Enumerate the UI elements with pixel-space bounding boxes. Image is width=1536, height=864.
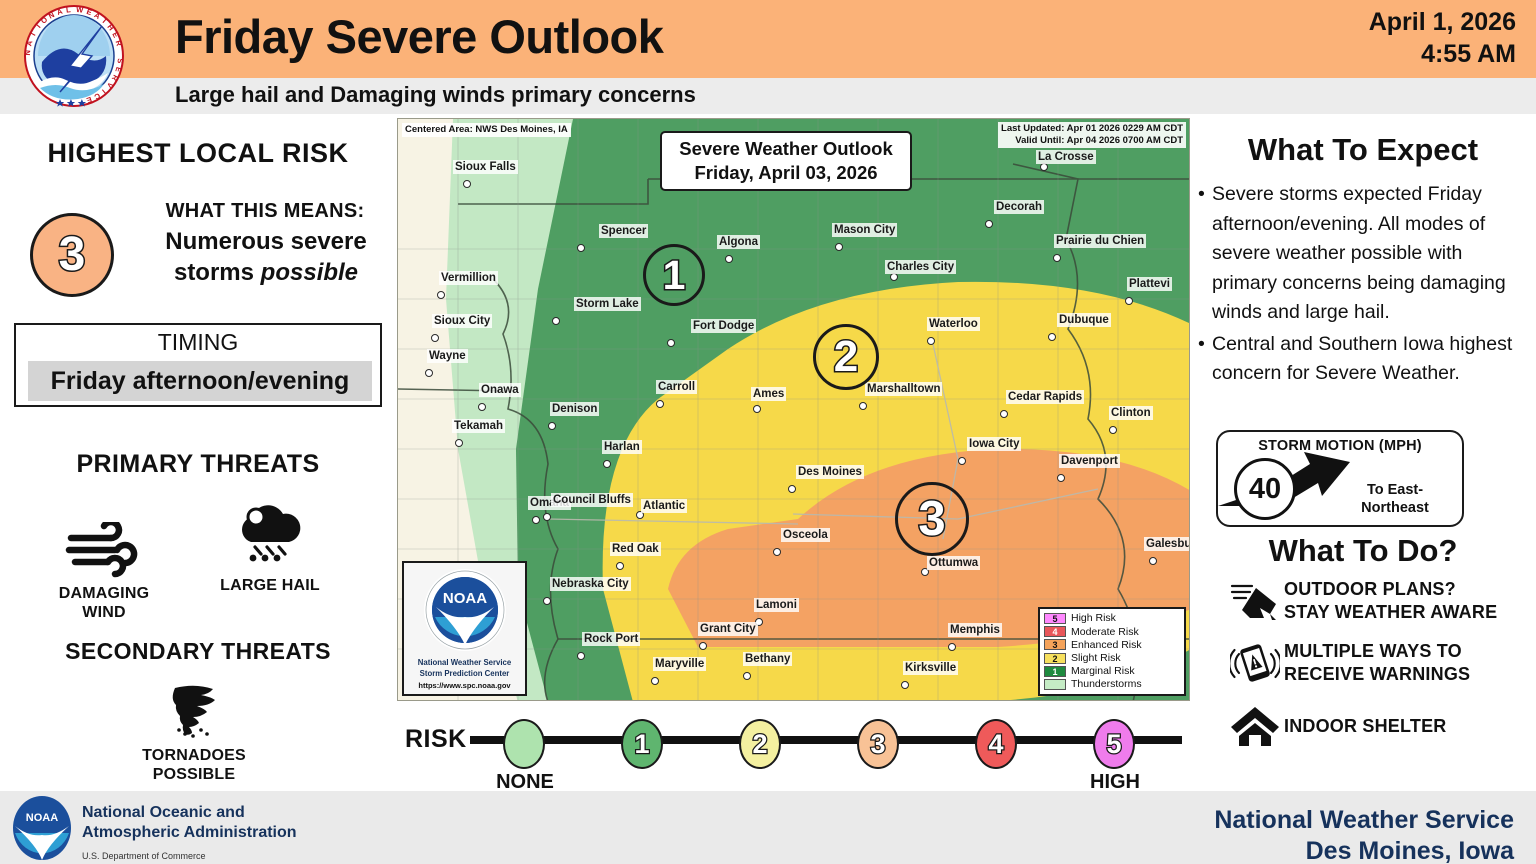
- todo-outdoor-plans: OUTDOOR PLANS? STAY WEATHER AWARE: [1226, 578, 1497, 624]
- city-label: Mason City: [832, 223, 897, 237]
- risk-scale-node-number: 1: [634, 731, 649, 758]
- large-hail-icon: [190, 510, 350, 570]
- city-marker: [743, 672, 751, 680]
- city-marker: [1000, 410, 1008, 418]
- city-label: Charles City: [885, 260, 956, 274]
- map-title-line1: Severe Weather Outlook: [679, 137, 893, 161]
- what-this-means-line1: Numerous severe: [135, 226, 397, 257]
- page-title: Friday Severe Outlook: [175, 10, 663, 64]
- city-label: Spencer: [599, 224, 648, 238]
- timing-value-highlight: Friday afternoon/evening: [28, 361, 372, 401]
- city-label: Storm Lake: [574, 297, 641, 311]
- city-marker: [985, 220, 993, 228]
- risk-scale-node-number: 4: [988, 731, 1003, 758]
- city-label: Harlan: [602, 440, 642, 454]
- city-label: Prairie du Chien: [1054, 234, 1146, 248]
- timing-value: Friday afternoon/evening: [51, 367, 350, 396]
- todo-indoor-shelter: INDOOR SHELTER: [1226, 704, 1446, 748]
- city-marker: [927, 337, 935, 345]
- city-marker: [532, 516, 540, 524]
- todo-text: MULTIPLE WAYS TO RECEIVE WARNINGS: [1284, 640, 1470, 686]
- primary-threats-title: PRIMARY THREATS: [0, 450, 396, 479]
- city-label: Nebraska City: [550, 577, 631, 591]
- city-marker: [699, 642, 707, 650]
- map-risk-bubble-number: 3: [918, 495, 945, 544]
- risk-scale: RISK 12345 NONE HIGH: [397, 701, 1190, 790]
- highest-risk-number: 3: [59, 231, 86, 279]
- threat-caption: DAMAGING WIND: [24, 584, 184, 622]
- storm-direction-text: To East- Northeast: [1340, 481, 1450, 517]
- risk-scale-node-number: 2: [752, 731, 767, 758]
- what-this-means-text: Numerous severe storms possible: [135, 226, 397, 288]
- issue-date: April 1, 2026: [1369, 6, 1516, 38]
- threat-caption: LARGE HAIL: [190, 576, 350, 595]
- footer-bar: NOAA National Oceanic and Atmospheric Ad…: [0, 791, 1536, 864]
- bullet-dot: •: [1198, 180, 1212, 328]
- what-to-expect-bullets: •Severe storms expected Friday afternoon…: [1198, 180, 1528, 391]
- legend-label: Thunderstorms: [1071, 678, 1142, 690]
- city-label: Fort Dodge: [691, 319, 756, 333]
- right-info-panel: What To Expect •Severe storms expected F…: [1190, 118, 1536, 790]
- risk-scale-node-3: 3: [857, 719, 899, 769]
- risk-scale-node-number: 3: [870, 731, 885, 758]
- city-label: Marshalltown: [865, 382, 942, 396]
- city-marker: [548, 422, 556, 430]
- city-marker: [773, 548, 781, 556]
- legend-swatch: 2: [1044, 653, 1066, 664]
- tornado-icon: [114, 680, 274, 740]
- legend-swatch: 5: [1044, 613, 1066, 624]
- damaging-wind-icon: [24, 518, 184, 578]
- city-marker: [667, 339, 675, 347]
- risk-scale-node-1: 1: [621, 719, 663, 769]
- expect-bullet: •Severe storms expected Friday afternoon…: [1198, 180, 1528, 328]
- city-label: Galesburg: [1144, 537, 1190, 551]
- risk-scale-node-4: 4: [975, 719, 1017, 769]
- city-marker: [753, 405, 761, 413]
- city-marker: [1040, 163, 1048, 171]
- city-label: Osceola: [781, 528, 830, 542]
- city-marker: [577, 652, 585, 660]
- footer-noaa-line2: Atmospheric Administration: [82, 823, 297, 843]
- timing-label: TIMING: [16, 329, 380, 356]
- city-marker: [958, 457, 966, 465]
- city-marker: [890, 273, 898, 281]
- footer-office-line1: National Weather Service: [1214, 805, 1514, 836]
- risk-scale-node-2: 2: [739, 719, 781, 769]
- city-label: Plattevi: [1127, 277, 1172, 291]
- city-label: Waterloo: [927, 317, 980, 331]
- risk-scale-node-number: 5: [1106, 731, 1121, 758]
- city-marker: [1048, 333, 1056, 341]
- what-this-means-line2: storms possible: [135, 257, 397, 288]
- legend-swatch: 1: [1044, 666, 1066, 677]
- timing-box: TIMING Friday afternoon/evening: [14, 323, 382, 407]
- risk-scale-label: RISK: [405, 725, 467, 754]
- city-label: Lamoni: [754, 598, 799, 612]
- city-marker: [948, 643, 956, 651]
- city-marker: [425, 369, 433, 377]
- city-label: Red Oak: [610, 542, 661, 556]
- city-label: Dubuque: [1057, 313, 1111, 327]
- city-label: Decorah: [994, 200, 1044, 214]
- left-summary-panel: HIGHEST LOCAL RISK 3 WHAT THIS MEANS: Nu…: [0, 118, 396, 790]
- legend-label: High Risk: [1071, 612, 1116, 624]
- what-to-expect-title: What To Expect: [1190, 132, 1536, 168]
- severe-weather-outlook-graphic: N A T I O N A L W E A T H E R S E R V I: [0, 0, 1536, 864]
- legend-swatch: [1044, 679, 1066, 690]
- noaa-logo-icon: NOAA: [10, 795, 74, 864]
- threat-large-hail: LARGE HAIL: [190, 510, 350, 595]
- city-label: Wayne: [427, 349, 468, 363]
- city-marker: [725, 255, 733, 263]
- legend-swatch: 3: [1044, 639, 1066, 650]
- secondary-threats-title: SECONDARY THREATS: [0, 638, 396, 665]
- city-label: Kirksville: [903, 661, 958, 675]
- city-label: Sioux City: [432, 314, 492, 328]
- city-marker: [543, 597, 551, 605]
- issue-time: 4:55 AM: [1369, 38, 1516, 70]
- city-marker: [651, 677, 659, 685]
- city-label: Carroll: [656, 380, 697, 394]
- footer-office: National Weather Service Des Moines, Iow…: [1214, 805, 1514, 864]
- map-timestamp-label: Last Updated: Apr 01 2026 0229 AM CDT Va…: [998, 122, 1186, 148]
- city-marker: [437, 291, 445, 299]
- legend-label: Marginal Risk: [1071, 665, 1135, 677]
- city-marker: [455, 439, 463, 447]
- what-this-means-label: WHAT THIS MEANS:: [140, 200, 390, 223]
- map-risk-bubble-number: 2: [834, 335, 858, 379]
- spc-line1: National Weather Service: [418, 658, 511, 669]
- city-marker: [1125, 297, 1133, 305]
- city-label: Memphis: [948, 623, 1002, 637]
- outlook-map[interactable]: Centered Area: NWS Des Moines, IA Last U…: [397, 118, 1190, 701]
- legend-row: 5High Risk: [1044, 612, 1180, 625]
- bullet-text: Severe storms expected Friday afternoon/…: [1212, 180, 1528, 328]
- city-marker: [656, 400, 664, 408]
- city-marker: [543, 513, 551, 521]
- city-marker: [478, 403, 486, 411]
- legend-row: 3Enhanced Risk: [1044, 638, 1180, 651]
- todo-text: OUTDOOR PLANS? STAY WEATHER AWARE: [1284, 578, 1497, 624]
- city-label: Denison: [550, 402, 599, 416]
- legend-row: 1Marginal Risk: [1044, 665, 1180, 678]
- city-marker: [859, 402, 867, 410]
- city-marker: [463, 180, 471, 188]
- map-risk-bubble-3: 3: [895, 482, 969, 556]
- city-label: Sioux Falls: [453, 160, 518, 174]
- house-shelter-icon: [1226, 704, 1284, 748]
- city-label: Ottumwa: [927, 556, 980, 570]
- nws-seal-icon: N A T I O N A L W E A T H E R S E R V I: [14, 4, 134, 109]
- what-to-do-title: What To Do?: [1190, 533, 1536, 569]
- highest-risk-badge: 3: [30, 213, 114, 297]
- issue-datetime: April 1, 2026 4:55 AM: [1369, 6, 1516, 70]
- bullet-dot: •: [1198, 330, 1212, 389]
- map-risk-bubble-number: 1: [663, 255, 686, 296]
- svg-text:N: N: [23, 50, 32, 56]
- city-label: Onawa: [479, 383, 521, 397]
- spc-url: https://www.spc.noaa.gov: [418, 681, 510, 690]
- map-title-line2: Friday, April 03, 2026: [694, 161, 877, 185]
- page-subtitle: Large hail and Damaging winds primary co…: [175, 78, 696, 112]
- storm-motion-box: STORM MOTION (MPH) 40 To East- Northeast: [1216, 430, 1464, 527]
- footer-noaa-text: National Oceanic and Atmospheric Adminis…: [82, 803, 297, 864]
- city-label: Council Bluffs: [551, 493, 633, 507]
- city-marker: [835, 243, 843, 251]
- map-risk-bubble-1: 1: [643, 244, 705, 306]
- risk-scale-node-none: [503, 719, 545, 769]
- spc-line2: Storm Prediction Center: [420, 669, 510, 680]
- storm-speed-value: 40: [1249, 473, 1281, 506]
- risk-scale-node-5: 5: [1093, 719, 1135, 769]
- legend-label: Enhanced Risk: [1071, 639, 1142, 651]
- legend-row: Thunderstorms: [1044, 678, 1180, 691]
- city-marker: [788, 485, 796, 493]
- bullet-text: Central and Southern Iowa highest concer…: [1212, 330, 1528, 389]
- map-last-updated: Last Updated: Apr 01 2026 0229 AM CDT: [1001, 123, 1183, 135]
- todo-text: INDOOR SHELTER: [1284, 715, 1446, 738]
- city-label: Algona: [717, 235, 760, 249]
- city-marker: [577, 244, 585, 252]
- legend-swatch: 4: [1044, 626, 1066, 637]
- city-marker: [603, 460, 611, 468]
- threat-tornado: TORNADOES POSSIBLE: [114, 680, 274, 784]
- map-centered-area-label: Centered Area: NWS Des Moines, IA: [402, 123, 571, 137]
- legend-row: 4Moderate Risk: [1044, 625, 1180, 638]
- city-label: Maryville: [653, 657, 706, 671]
- city-label: Grant City: [698, 622, 758, 636]
- legend-row: 2Slight Risk: [1044, 651, 1180, 664]
- footer-office-line2: Des Moines, Iowa: [1214, 836, 1514, 864]
- city-label: Rock Port: [582, 632, 640, 646]
- svg-text:NOAA: NOAA: [26, 812, 58, 824]
- city-marker: [431, 334, 439, 342]
- map-risk-bubble-2: 2: [813, 324, 879, 390]
- map-valid-until: Valid Until: Apr 04 2026 0700 AM CDT: [1001, 135, 1183, 147]
- svg-text:NOAA: NOAA: [442, 590, 486, 607]
- city-label: La Crosse: [1036, 150, 1096, 164]
- phone-alert-icon: [1226, 640, 1284, 686]
- city-marker: [1109, 426, 1117, 434]
- threat-caption: TORNADOES POSSIBLE: [114, 746, 274, 784]
- svg-text:S: S: [116, 58, 125, 64]
- city-label: Tekamah: [452, 419, 505, 433]
- spc-credit-box: NOAA National Weather Service Storm Pred…: [402, 561, 527, 696]
- calendar-plans-icon: [1226, 580, 1284, 622]
- city-marker: [552, 317, 560, 325]
- city-label: Davenport: [1059, 454, 1120, 468]
- city-label: Clinton: [1109, 406, 1153, 420]
- risk-scale-line: [470, 736, 1182, 744]
- city-marker: [1057, 474, 1065, 482]
- city-label: Bethany: [743, 652, 792, 666]
- todo-receive-warnings: MULTIPLE WAYS TO RECEIVE WARNINGS: [1226, 640, 1470, 686]
- city-label: Ames: [751, 387, 786, 401]
- noaa-logo-icon: NOAA: [422, 567, 508, 658]
- map-title-box: Severe Weather Outlook Friday, April 03,…: [660, 131, 912, 191]
- city-label: Des Moines: [796, 465, 864, 479]
- expect-bullet: •Central and Southern Iowa highest conce…: [1198, 330, 1528, 389]
- city-label: Iowa City: [967, 437, 1021, 451]
- map-legend: 5High Risk4Moderate Risk3Enhanced Risk2S…: [1038, 607, 1186, 696]
- legend-label: Slight Risk: [1071, 652, 1121, 664]
- threat-damaging-wind: DAMAGING WIND: [24, 518, 184, 622]
- city-marker: [616, 562, 624, 570]
- city-label: Cedar Rapids: [1006, 390, 1084, 404]
- storm-speed-badge: 40: [1234, 458, 1296, 520]
- footer-noaa-line1: National Oceanic and: [82, 803, 297, 823]
- highest-local-risk-title: HIGHEST LOCAL RISK: [0, 138, 396, 169]
- city-label: Atlantic: [641, 499, 687, 513]
- city-marker: [1053, 254, 1061, 262]
- city-label: Vermillion: [439, 271, 498, 285]
- city-marker: [1149, 557, 1157, 565]
- city-marker: [901, 681, 909, 689]
- footer-noaa-dept: U.S. Department of Commerce: [82, 846, 297, 864]
- legend-label: Moderate Risk: [1071, 626, 1139, 638]
